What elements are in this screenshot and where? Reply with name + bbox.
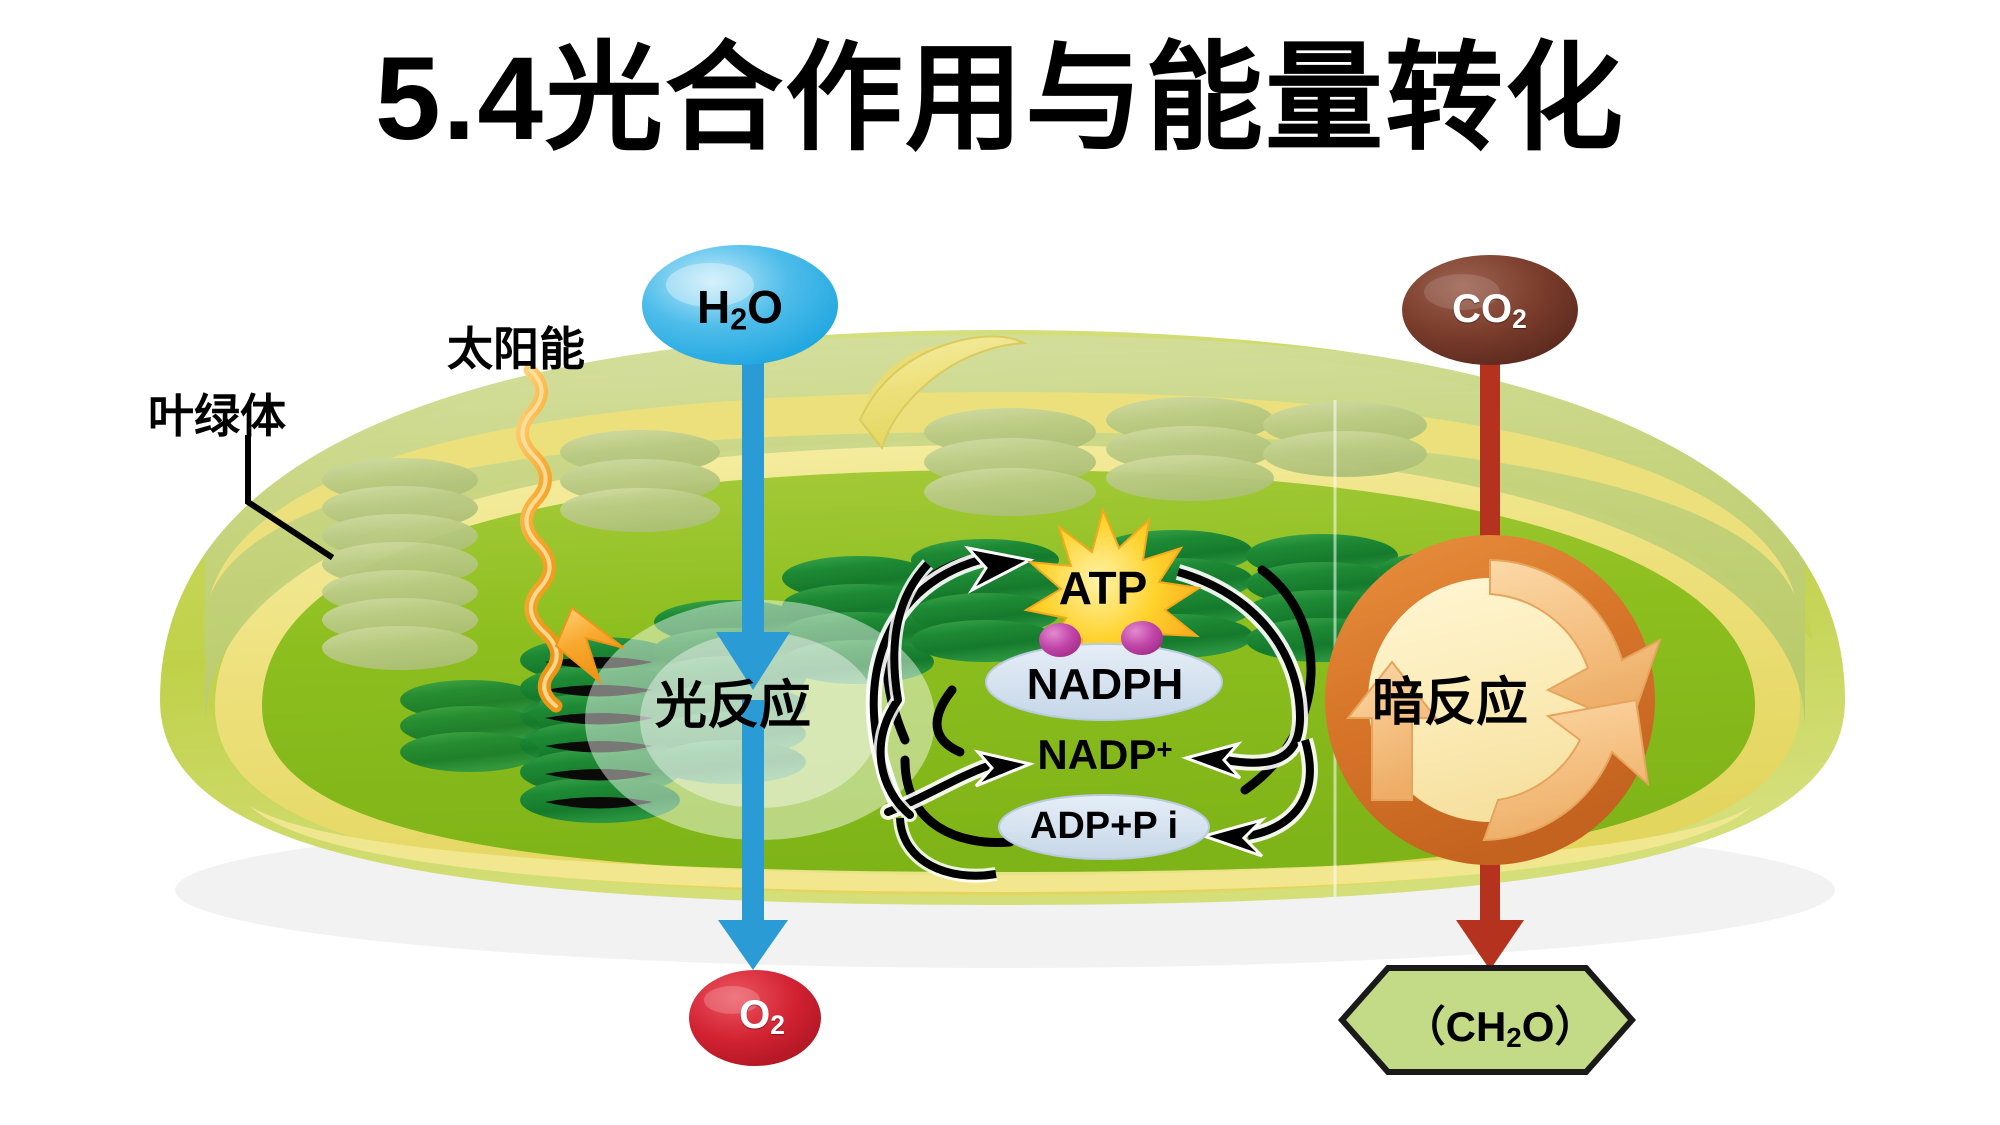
nadph-formula: NADPH [1005,660,1205,710]
water-formula: H2O [645,280,835,338]
oxygen-formula: O2 [692,993,832,1041]
adp-pi-formula: ADP+P i [1004,805,1204,848]
chloroplast-label: 叶绿体 [148,380,286,446]
solar-energy-label: 太阳能 [447,313,585,379]
light-reaction-label: 光反应 [655,663,811,738]
nadp-plus-formula: NADP+ [1010,731,1200,779]
atp-formula: ATP [1033,561,1173,615]
chloroplast-illustration [0,0,2000,1125]
dark-reaction-label: 暗反应 [1372,660,1528,735]
carbon-dioxide-formula: CO2 [1402,287,1577,335]
carbohydrate-formula: （CH2O） [1385,993,1615,1054]
slide-canvas: 5.4光合作用与能量转化 [0,0,2000,1125]
